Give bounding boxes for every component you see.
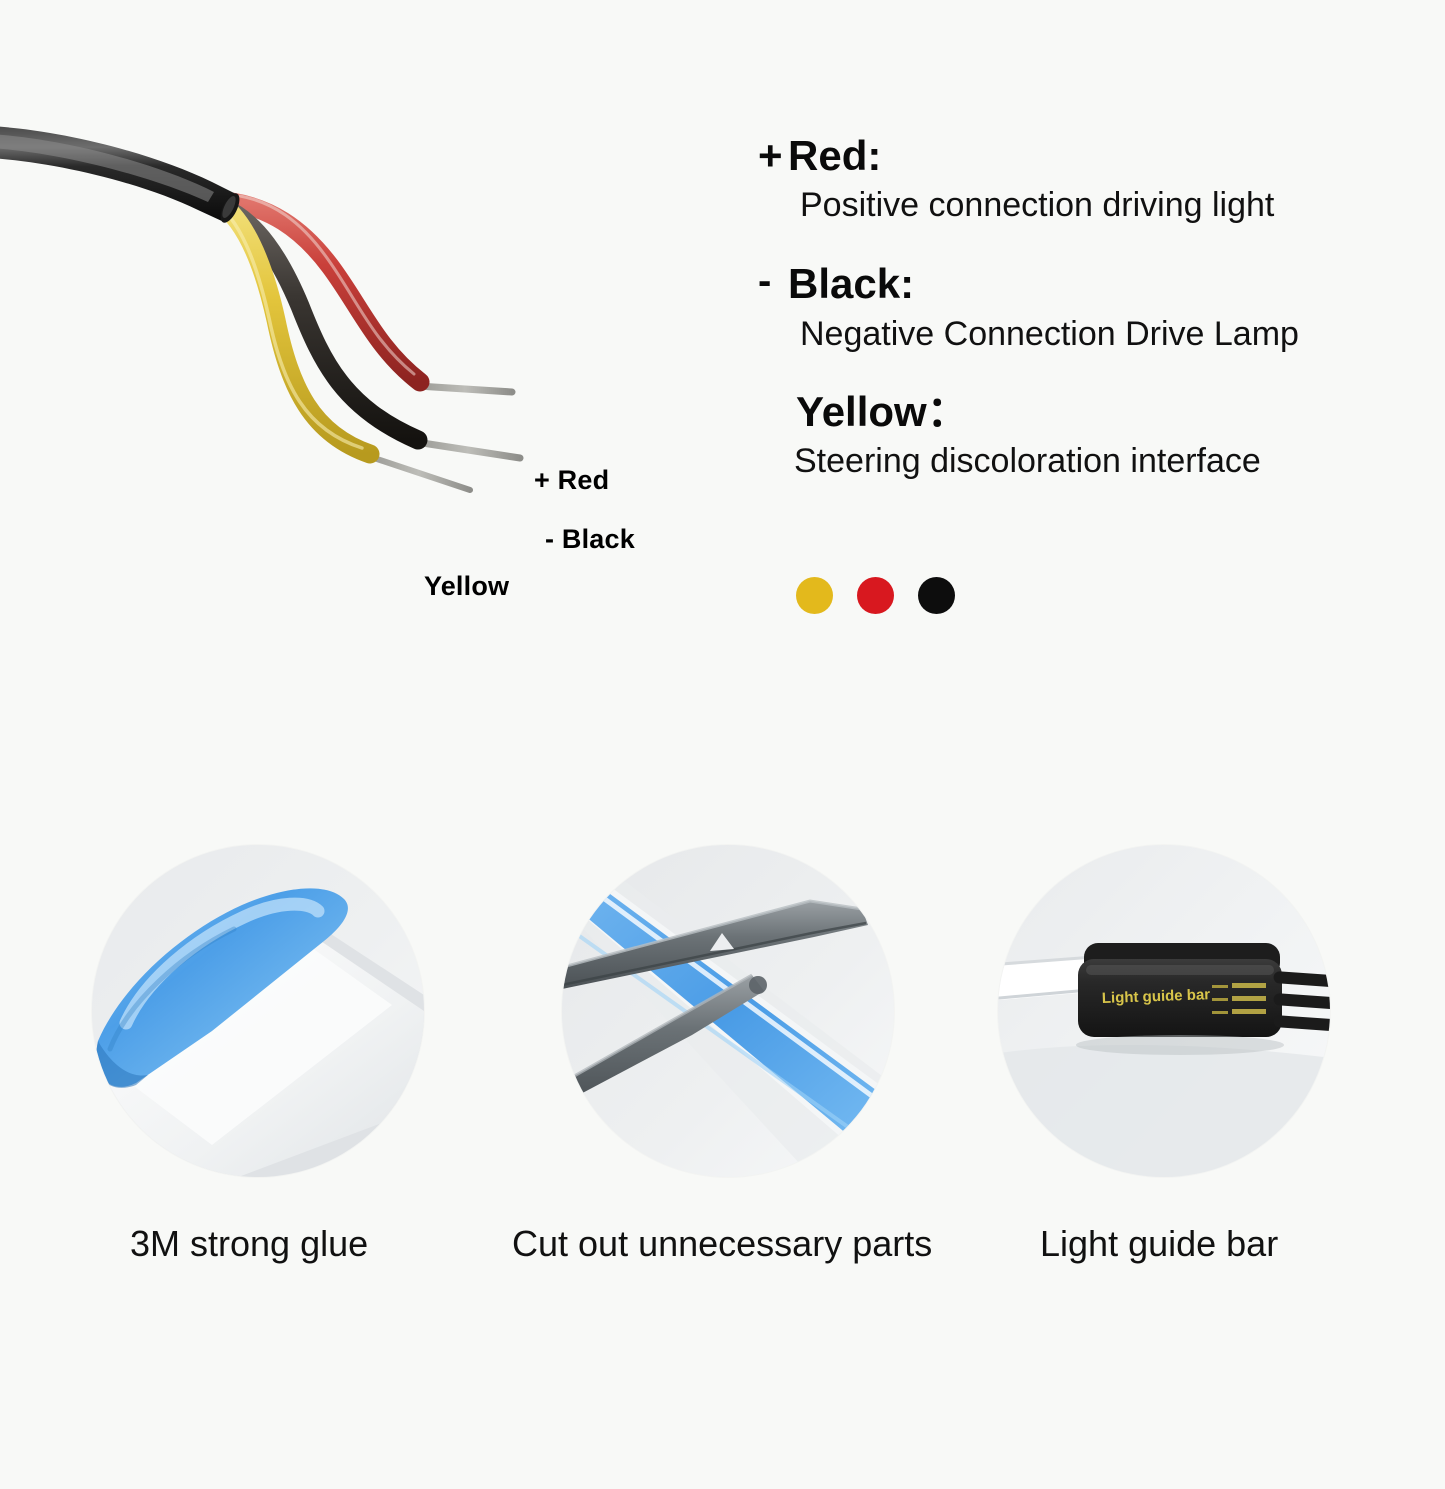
step-photo-cut: [562, 845, 894, 1177]
cable-sheath: [0, 126, 243, 225]
legend-heading-red: +Red:: [758, 132, 1398, 179]
plus-sign-icon: +: [758, 132, 786, 179]
color-swatch-black: [918, 577, 955, 614]
step-caption-cut: Cut out unnecessary parts: [512, 1223, 952, 1265]
legend-title-black: Black:: [788, 260, 914, 307]
bare-copper-tips: [368, 386, 520, 490]
legend-heading-yellow: Yellow：: [794, 388, 1398, 435]
step-caption-bar: Light guide bar: [998, 1223, 1338, 1265]
legend-heading-black: -Black:: [758, 260, 1398, 308]
step-light-guide-bar: Light guide bar: [998, 845, 1338, 1265]
bar-output-cables: [1273, 971, 1330, 1032]
wiring-legend: +Red: Positive connection driving light …: [758, 132, 1398, 516]
legend-item-black: -Black: Negative Connection Drive Lamp: [758, 260, 1398, 355]
step-caption-glue: 3M strong glue: [92, 1223, 432, 1265]
bar-photo-svg: Light guide bar: [998, 845, 1330, 1177]
step-cut-parts: Cut out unnecessary parts: [562, 845, 902, 1265]
wire-label-black: - Black: [545, 524, 635, 555]
legend-title-yellow: Yellow：: [796, 388, 969, 435]
legend-item-red: +Red: Positive connection driving light: [758, 132, 1398, 226]
legend-description-black: Negative Connection Drive Lamp: [800, 314, 1398, 355]
wire-color-swatches: [796, 577, 955, 614]
color-swatch-yellow: [796, 577, 833, 614]
wire-label-yellow: Yellow: [424, 571, 509, 602]
cut-photo-svg: [562, 845, 894, 1177]
glue-photo-svg: [92, 845, 424, 1177]
wire-diagram: + Red - Black Yellow: [0, 90, 720, 650]
step-3m-strong-glue: 3M strong glue: [92, 845, 432, 1265]
color-swatch-red: [857, 577, 894, 614]
wire-illustration-svg: [0, 90, 720, 650]
step-photo-bar: Light guide bar: [998, 845, 1330, 1177]
wire-label-red: + Red: [534, 465, 609, 496]
installation-steps: 3M strong glue: [0, 845, 1445, 1315]
legend-description-yellow: Steering discoloration interface: [794, 441, 1398, 482]
legend-item-yellow: Yellow： Steering discoloration interface: [758, 388, 1398, 482]
minus-sign-icon: -: [758, 259, 786, 304]
legend-description-red: Positive connection driving light: [800, 185, 1398, 226]
wire-yellow-highlight: [212, 200, 362, 448]
legend-title-red: Red:: [788, 132, 881, 179]
step-photo-glue: [92, 845, 424, 1177]
